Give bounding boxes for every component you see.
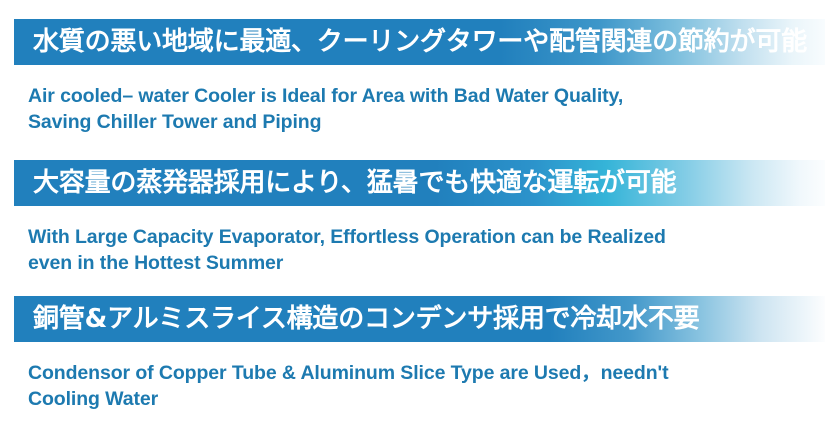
feature-headline-ja-3: 銅管&アルミスライス構造のコンデンサ採用で冷却水不要 xyxy=(14,296,699,342)
feature-block-1: 水質の悪い地域に最適、クーリングタワーや配管関連の節約が可能 Air coole… xyxy=(0,19,839,65)
feature-headline-ja-1: 水質の悪い地域に最適、クーリングタワーや配管関連の節約が可能 xyxy=(14,19,807,65)
feature-banner-2: 大容量の蒸発器採用により、猛暑でも快適な運転が可能 xyxy=(14,160,825,206)
feature-block-2: 大容量の蒸発器採用により、猛暑でも快適な運転が可能 With Large Cap… xyxy=(0,160,839,206)
feature-headline-ja-2: 大容量の蒸発器採用により、猛暑でも快適な運転が可能 xyxy=(14,160,676,206)
feature-highlights-sheet: 水質の悪い地域に最適、クーリングタワーや配管関連の節約が可能 Air coole… xyxy=(0,0,839,433)
feature-banner-3: 銅管&アルミスライス構造のコンデンサ採用で冷却水不要 xyxy=(14,296,825,342)
feature-caption-en-1: Air cooled– water Cooler is Ideal for Ar… xyxy=(28,83,623,135)
feature-caption-en-3: Condensor of Copper Tube & Aluminum Slic… xyxy=(28,360,668,412)
feature-block-3: 銅管&アルミスライス構造のコンデンサ採用で冷却水不要 Condensor of … xyxy=(0,296,839,342)
feature-caption-en-2: With Large Capacity Evaporator, Effortle… xyxy=(28,224,666,276)
feature-banner-1: 水質の悪い地域に最適、クーリングタワーや配管関連の節約が可能 xyxy=(14,19,825,65)
